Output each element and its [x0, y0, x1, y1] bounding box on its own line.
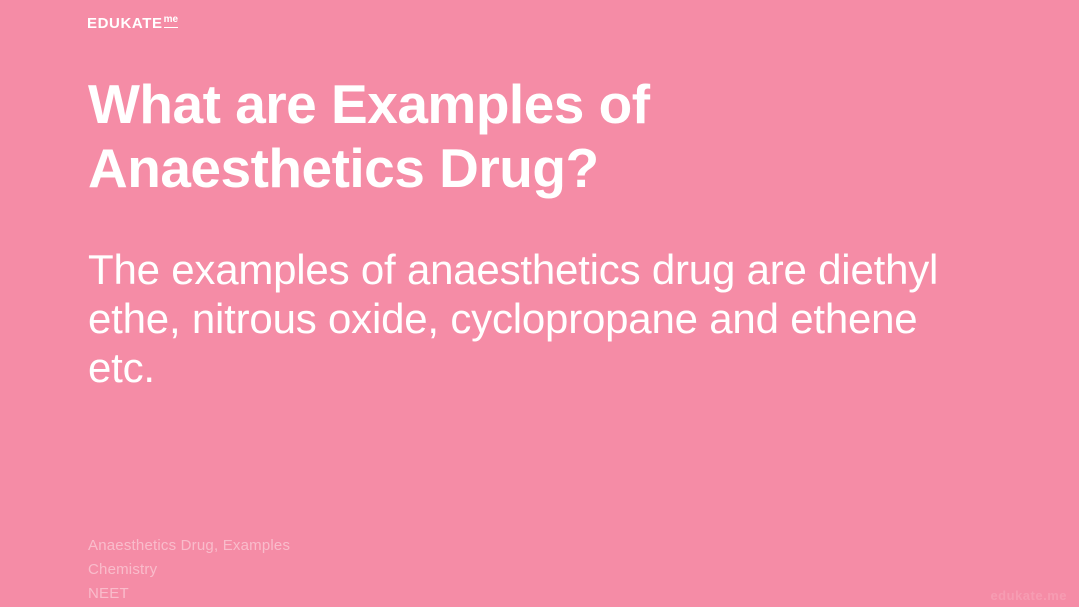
slide-heading: What are Examples of Anaesthetics Drug? [88, 72, 788, 201]
slide-body-text: The examples of anaesthetics drug are di… [88, 245, 988, 392]
brand-name: EDUKATE [87, 16, 163, 31]
tag-item-topic[interactable]: Anaesthetics Drug, Examples [88, 534, 290, 558]
brand-superscript: me [164, 15, 178, 28]
slide-canvas: EDUKATE me What are Examples of Anaesthe… [0, 0, 1079, 607]
corner-watermark: edukate.me [990, 588, 1067, 603]
tag-item-exam[interactable]: NEET [88, 582, 290, 606]
tag-item-subject[interactable]: Chemistry [88, 558, 290, 582]
tag-list: Anaesthetics Drug, Examples Chemistry NE… [88, 534, 290, 606]
brand-logo[interactable]: EDUKATE me [87, 16, 178, 31]
